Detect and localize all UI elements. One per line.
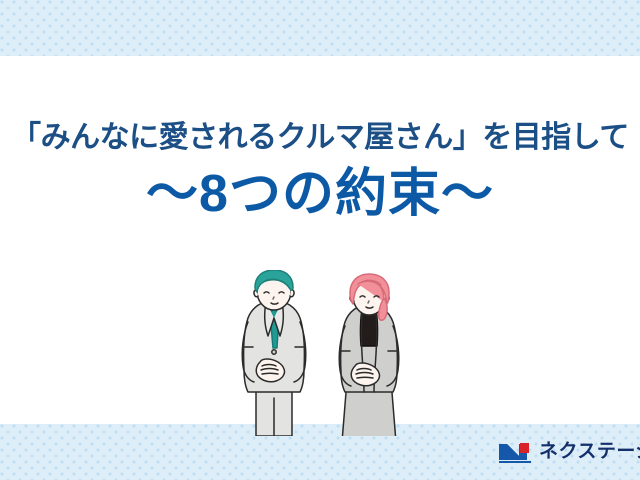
nextage-logo: ネクステージ — [498, 438, 640, 466]
female-staff-figure — [339, 274, 399, 436]
top-dot-band — [0, 0, 640, 56]
nextage-logo-text: ネクステージ — [539, 440, 640, 464]
headline-block: 「みんなに愛されるクルマ屋さん」を目指して 〜8つの約束〜 — [0, 118, 640, 226]
headline-line-1: 「みんなに愛されるクルマ屋さん」を目指して — [0, 118, 640, 158]
promotional-banner: 「みんなに愛されるクルマ屋さん」を目指して 〜8つの約束〜 — [0, 0, 640, 480]
male-staff-figure — [242, 270, 306, 436]
nextage-n-mark-icon — [498, 440, 532, 464]
headline-line-2: 〜8つの約束〜 — [0, 162, 640, 226]
staff-illustration — [232, 270, 422, 436]
